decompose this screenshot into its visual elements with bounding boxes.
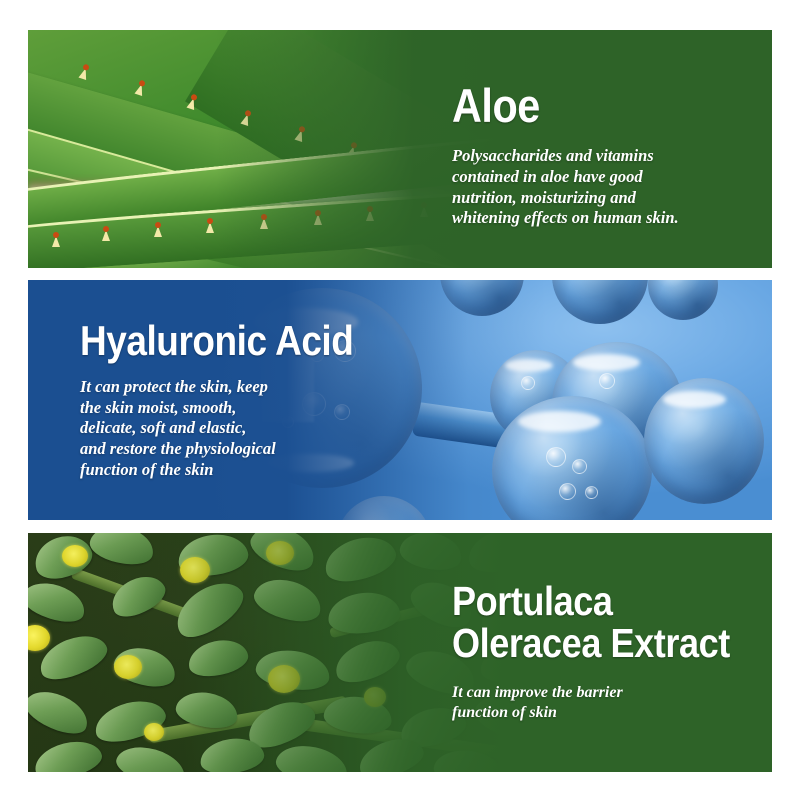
banner-aloe[interactable]: Aloe Polysaccharides and vitamins contai… [28, 30, 772, 268]
portulaca-title: Portulaca Oleracea Extract [452, 581, 730, 665]
aloe-description-line: nutrition, moisturizing and [452, 188, 679, 209]
hyaluronic-description-line: delicate, soft and elastic, [80, 418, 391, 439]
hyaluronic-description-line: the skin moist, smooth, [80, 398, 391, 419]
hyaluronic-title: Hyaluronic Acid [80, 320, 353, 363]
portulaca-title-line: Portulaca [452, 581, 730, 623]
portulaca-description-line: It can improve the barrier [452, 683, 768, 703]
banner-hyaluronic-acid[interactable]: Hyaluronic Acid It can protect the skin,… [28, 280, 772, 520]
hyaluronic-description-line: It can protect the skin, keep [80, 377, 391, 398]
aloe-description-line: whitening effects on human skin. [452, 208, 679, 229]
hyaluronic-text-block: Hyaluronic Acid It can protect the skin,… [80, 320, 391, 481]
portulaca-description: It can improve the barrier function of s… [452, 683, 768, 723]
portulaca-description-line: function of skin [452, 703, 768, 723]
banner-portulaca-oleracea-extract[interactable]: Portulaca Oleracea Extract It can improv… [28, 533, 772, 772]
portulaca-text-block: Portulaca Oleracea Extract It can improv… [452, 581, 768, 723]
hyaluronic-description-line: and restore the physiological [80, 439, 391, 460]
aloe-photo-fade [28, 30, 498, 268]
hyaluronic-description-line: function of the skin [80, 460, 391, 481]
aloe-description: Polysaccharides and vitamins contained i… [452, 146, 679, 229]
aloe-title: Aloe [452, 82, 651, 130]
aloe-description-line: Polysaccharides and vitamins [452, 146, 679, 167]
portulaca-title-line: Oleracea Extract [452, 623, 730, 665]
aloe-description-line: contained in aloe have good [452, 167, 679, 188]
ingredient-banner-page: Aloe Polysaccharides and vitamins contai… [0, 0, 800, 800]
hyaluronic-description: It can protect the skin, keep the skin m… [80, 377, 391, 481]
aloe-text-block: Aloe Polysaccharides and vitamins contai… [452, 82, 679, 229]
aloe-photo [28, 30, 498, 268]
